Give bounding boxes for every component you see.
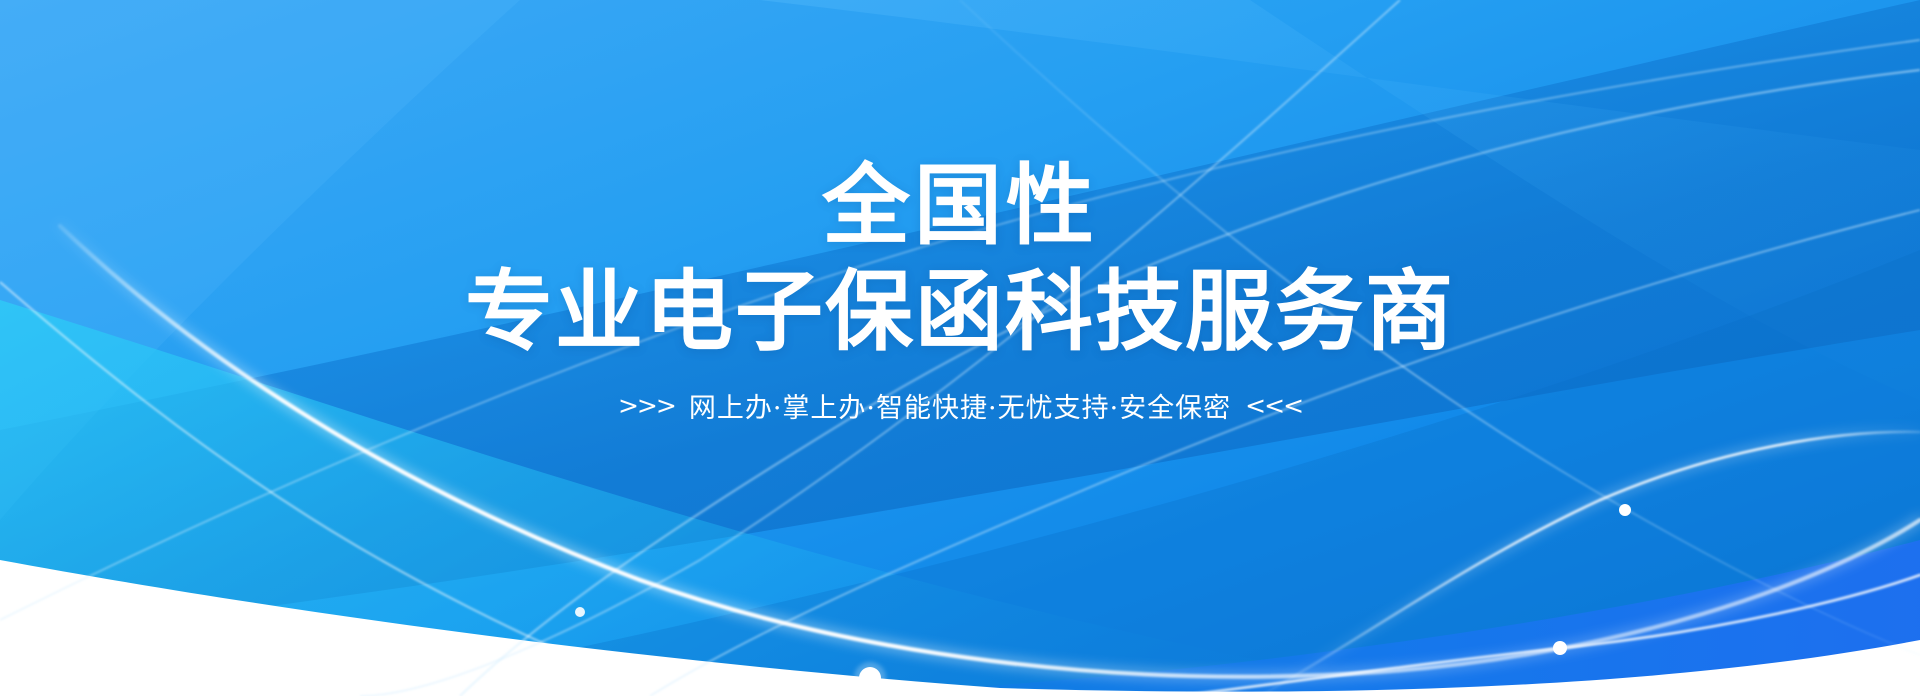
node-dot-lower-right bbox=[1553, 641, 1567, 655]
node-dot-left bbox=[575, 607, 585, 617]
node-dot-center-glow bbox=[854, 662, 886, 694]
banner-background-art bbox=[0, 0, 1920, 696]
hero-banner: 全国性 专业电子保函科技服务商 >>> 网上办·掌上办·智能快捷·无忧支持·安全… bbox=[0, 0, 1920, 696]
node-dot-upper-right bbox=[1619, 504, 1631, 516]
